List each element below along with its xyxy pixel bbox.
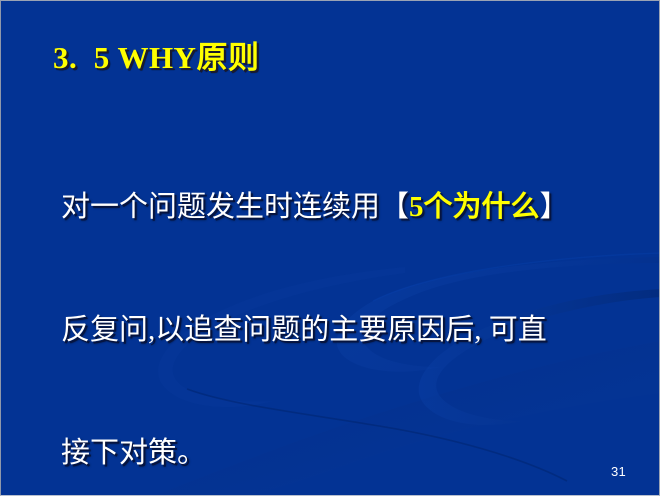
page-number: 31 xyxy=(611,464,626,479)
body-line-1-highlight: 5个为什么 xyxy=(409,191,540,223)
presentation-slide: 3. 5 WHY原则 对一个问题发生时连续用【5个为什么】 反复问,以追查问题的… xyxy=(0,0,660,496)
slide-title: 3. 5 WHY原则 xyxy=(53,39,259,77)
slide-body-text: 对一个问题发生时连续用【5个为什么】 反复问,以追查问题的主要原因后, 可直 接… xyxy=(61,105,621,496)
body-line-2: 反复问,以追查问题的主要原因后, 可直 xyxy=(61,310,621,351)
body-line-1-prefix: 对一个问题发生时连续用【 xyxy=(61,191,409,223)
body-line-1-suffix: 】 xyxy=(540,191,569,223)
body-line-3: 接下对策。 xyxy=(61,433,621,474)
body-line-1: 对一个问题发生时连续用【5个为什么】 xyxy=(61,187,621,228)
